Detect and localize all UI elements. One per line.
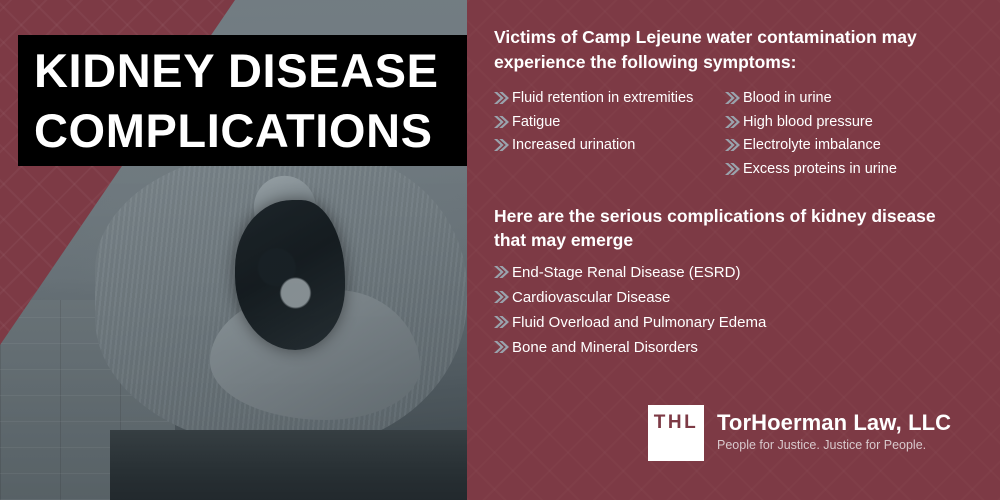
- infographic-canvas: KIDNEY DISEASE COMPLICATIONS Victims of …: [0, 0, 1000, 500]
- list-item: Bone and Mineral Disorders: [494, 337, 1000, 359]
- list-item: Blood in urine: [725, 88, 950, 109]
- list-item-label: Fluid retention in extremities: [512, 88, 719, 109]
- logo-mark-text: THL: [654, 412, 698, 434]
- list-item: Fluid retention in extremities: [494, 88, 719, 109]
- page-title-line-2: COMPLICATIONS: [18, 101, 467, 161]
- company-logo[interactable]: THL TorHoerman Law, LLC People for Justi…: [648, 405, 951, 461]
- list-item: Cardiovascular Disease: [494, 287, 1000, 309]
- list-item-label: Electrolyte imbalance: [743, 135, 950, 156]
- logo-company-name: TorHoerman Law, LLC: [717, 410, 951, 436]
- list-item-label: Excess proteins in urine: [743, 159, 950, 180]
- logo-mark-thl: THL: [648, 405, 704, 461]
- double-chevron-icon: [494, 312, 510, 328]
- list-item: Fluid Overload and Pulmonary Edema: [494, 312, 1000, 334]
- right-content: Victims of Camp Lejeune water contaminat…: [467, 0, 1000, 359]
- double-chevron-icon: [725, 112, 741, 128]
- list-item: High blood pressure: [725, 112, 950, 133]
- logo-text-block: TorHoerman Law, LLC People for Justice. …: [717, 405, 951, 454]
- list-item: Electrolyte imbalance: [725, 135, 950, 156]
- double-chevron-icon: [494, 287, 510, 303]
- logo-tagline: People for Justice. Justice for People.: [717, 436, 951, 454]
- list-item-label: Fatigue: [512, 112, 719, 133]
- list-item: Excess proteins in urine: [725, 159, 950, 180]
- double-chevron-icon: [725, 88, 741, 104]
- symptoms-column-left: Fluid retention in extremities Fatigue: [494, 88, 719, 182]
- complications-list: End-Stage Renal Disease (ESRD) Cardiovas…: [494, 262, 1000, 359]
- page-title-line-1: KIDNEY DISEASE: [18, 41, 467, 101]
- list-item-label: High blood pressure: [743, 112, 950, 133]
- double-chevron-icon: [725, 135, 741, 151]
- double-chevron-icon: [494, 112, 510, 128]
- complications-subheading: Here are the serious complications of ki…: [494, 204, 964, 252]
- title-box: KIDNEY DISEASE COMPLICATIONS: [18, 35, 467, 166]
- symptoms-column-right: Blood in urine High blood pressure: [725, 88, 950, 182]
- list-item: Fatigue: [494, 112, 719, 133]
- list-item-label: Blood in urine: [743, 88, 950, 109]
- double-chevron-icon: [494, 135, 510, 151]
- list-item-label: Increased urination: [512, 135, 719, 156]
- double-chevron-icon: [494, 337, 510, 353]
- list-item-label: Bone and Mineral Disorders: [512, 337, 1000, 359]
- list-item-label: Fluid Overload and Pulmonary Edema: [512, 312, 1000, 334]
- list-item: Increased urination: [494, 135, 719, 156]
- list-item-label: Cardiovascular Disease: [512, 287, 1000, 309]
- list-item: End-Stage Renal Disease (ESRD): [494, 262, 1000, 284]
- left-panel: KIDNEY DISEASE COMPLICATIONS: [0, 0, 467, 500]
- list-item-label: End-Stage Renal Disease (ESRD): [512, 262, 1000, 284]
- double-chevron-icon: [494, 88, 510, 104]
- double-chevron-icon: [725, 159, 741, 175]
- double-chevron-icon: [494, 262, 510, 278]
- symptoms-columns: Fluid retention in extremities Fatigue: [494, 88, 1000, 182]
- symptoms-intro-text: Victims of Camp Lejeune water contaminat…: [494, 25, 954, 75]
- right-panel: Victims of Camp Lejeune water contaminat…: [467, 0, 1000, 500]
